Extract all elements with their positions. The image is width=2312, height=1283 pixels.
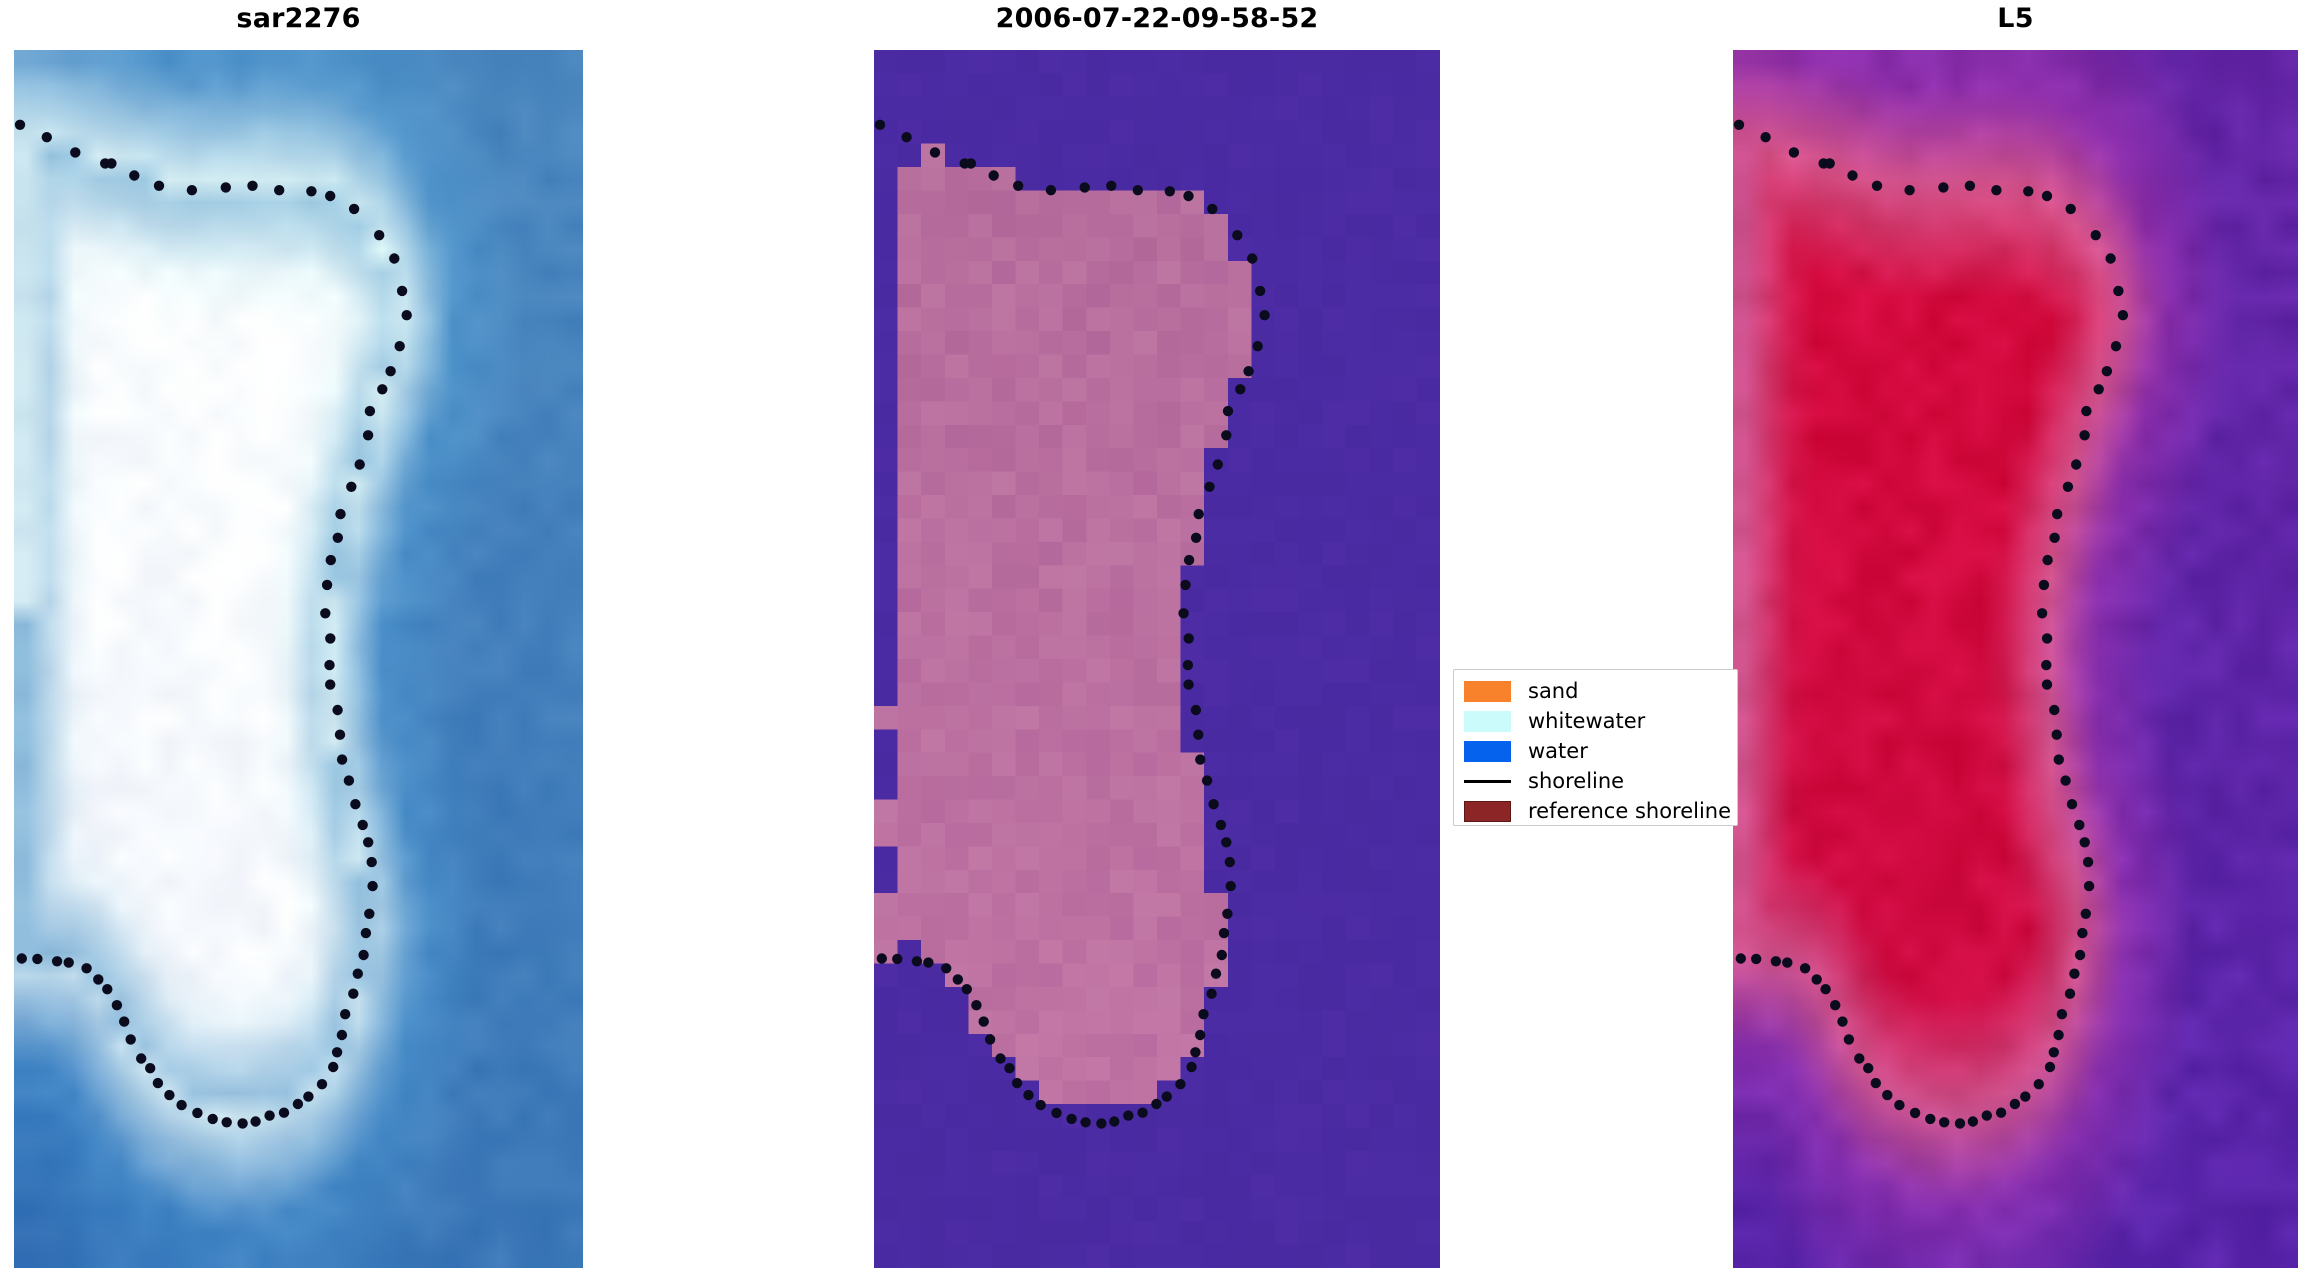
legend-item-label: shoreline bbox=[1528, 769, 1624, 793]
panel-title-l5: L5 bbox=[1733, 4, 2298, 34]
legend-item-label: water bbox=[1528, 739, 1588, 763]
legend-item-reference[interactable]: reference shoreline b bbox=[1464, 798, 1738, 824]
legend-color-swatch bbox=[1464, 711, 1511, 732]
figure-root: sar2276 2006-07-22-09-58-52 L5 sandwhite… bbox=[0, 0, 2312, 1283]
legend-item-label: whitewater bbox=[1528, 709, 1645, 733]
legend-item-sand[interactable]: sand bbox=[1464, 678, 1578, 704]
legend-line-swatch bbox=[1464, 771, 1511, 792]
classification-raster bbox=[874, 50, 1440, 1268]
legend-color-swatch bbox=[1464, 681, 1511, 702]
panel-title-classified: 2006-07-22-09-58-52 bbox=[874, 4, 1440, 34]
legend-item-label: sand bbox=[1528, 679, 1578, 703]
legend[interactable]: sandwhitewaterwatershorelinereference sh… bbox=[1453, 669, 1738, 826]
sar-raster bbox=[14, 50, 583, 1268]
panel-title-sar: sar2276 bbox=[14, 4, 583, 34]
sar-image-panel[interactable] bbox=[14, 50, 583, 1268]
shoreline-line-icon bbox=[1464, 780, 1511, 783]
legend-color-swatch bbox=[1464, 801, 1511, 822]
legend-item-label: reference shoreline b bbox=[1528, 799, 1738, 823]
legend-item-whitewater[interactable]: whitewater bbox=[1464, 708, 1645, 734]
l5-image-panel[interactable] bbox=[1733, 50, 2298, 1268]
legend-color-swatch bbox=[1464, 741, 1511, 762]
l5-raster bbox=[1733, 50, 2298, 1268]
classified-image-panel[interactable] bbox=[874, 50, 1440, 1268]
legend-item-shoreline[interactable]: shoreline bbox=[1464, 768, 1624, 794]
legend-item-water[interactable]: water bbox=[1464, 738, 1588, 764]
